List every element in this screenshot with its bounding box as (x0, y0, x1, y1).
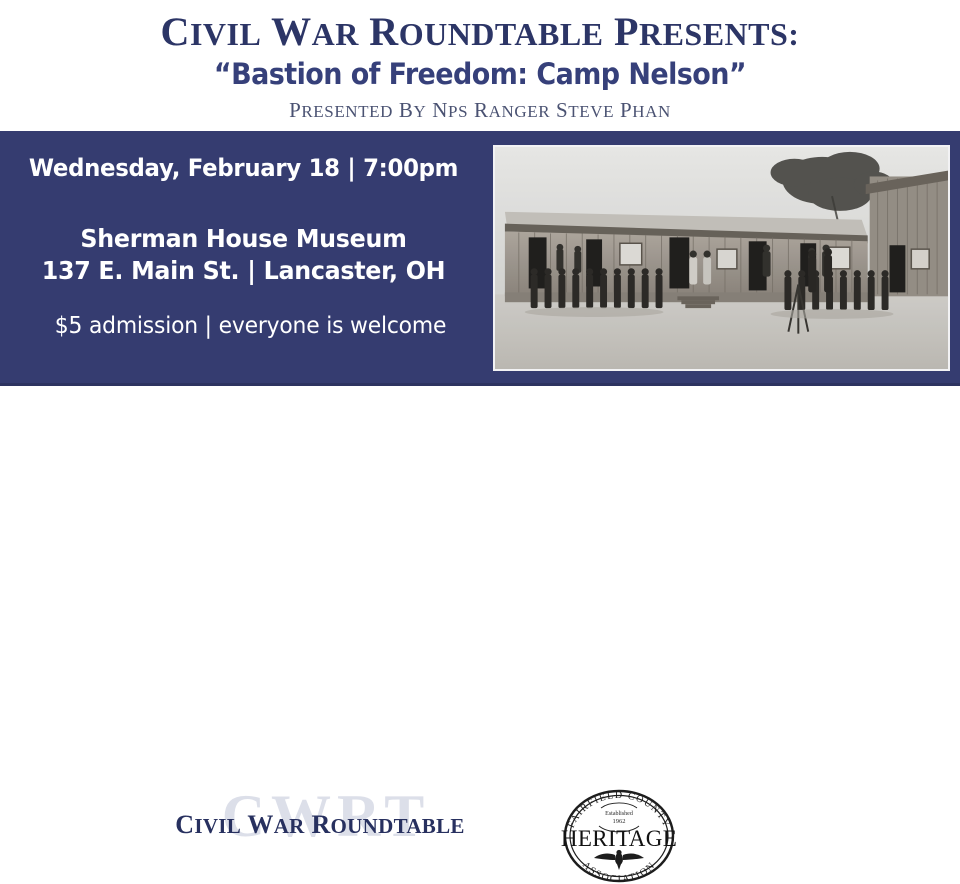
admission-info: $5 admission | everyone is welcome (26, 313, 475, 339)
photo-illustration (495, 147, 948, 369)
seal-established-year: 1962 (613, 818, 626, 825)
event-datetime: Wednesday, February 18 | 7:00pm (12, 154, 475, 182)
talk-title: “Bastion of Freedom: Camp Nelson” (34, 53, 927, 91)
venue-address: 137 E. Main St. | Lancaster, OH (12, 255, 475, 287)
fairfield-county-heritage-association-seal: FAIRFIELD COUNTY ASSOCIATION Established… (551, 784, 687, 884)
heritage-seal-graphic: FAIRFIELD COUNTY ASSOCIATION Established… (551, 784, 687, 884)
seal-established-label: Established (605, 811, 633, 817)
event-flyer: CIVIL WAR ROUNDTABLE PRESENTS: “Bastion … (0, 0, 960, 502)
seal-center-wordmark: HERITAGE (561, 826, 677, 851)
cwrt-logo-text: CIVIL WAR ROUNDTABLE (120, 810, 520, 840)
venue-name: Sherman House Museum (12, 223, 475, 255)
event-venue: Sherman House Museum 137 E. Main St. | L… (12, 223, 475, 287)
organization-title: CIVIL WAR ROUNDTABLE PRESENTS: (0, 0, 960, 53)
flyer-header: CIVIL WAR ROUNDTABLE PRESENTS: “Bastion … (0, 0, 960, 131)
camp-nelson-barracks-photo (493, 145, 950, 371)
eagle-icon (594, 850, 644, 870)
event-details: Wednesday, February 18 | 7:00pm Sherman … (0, 131, 487, 386)
flyer-footer: CWRT CIVIL WAR ROUNDTABLE FAIRFIELD COUN… (0, 386, 960, 502)
presenter-line: PRESENTED BY NPS RANGER STEVE PHAN (0, 91, 960, 123)
